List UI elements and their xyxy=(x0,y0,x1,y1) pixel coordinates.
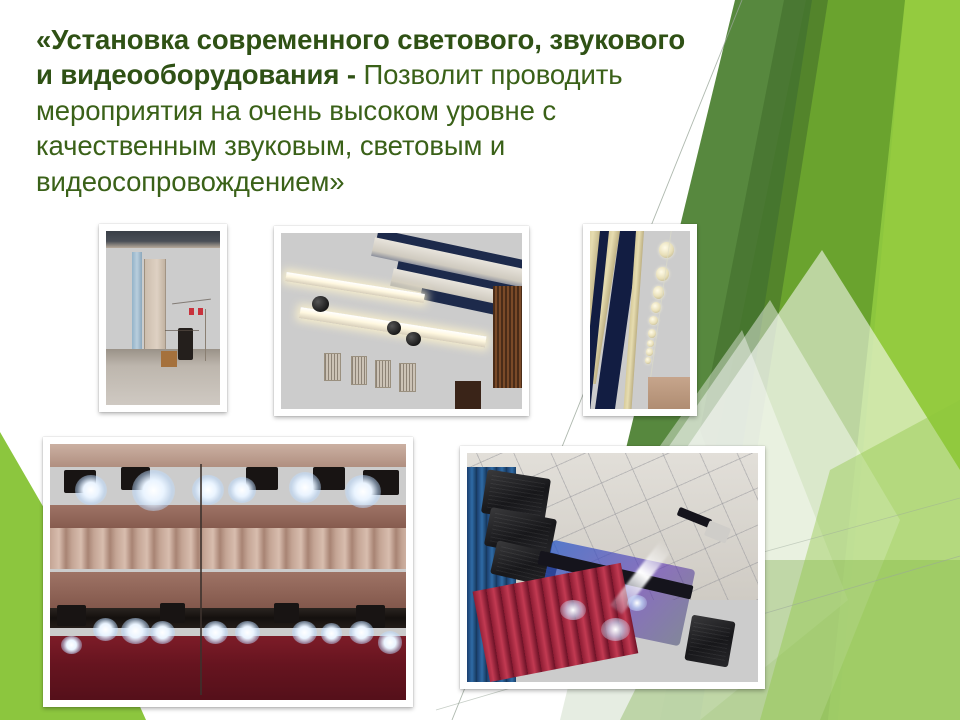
stage-spotlight-l6 xyxy=(292,621,317,644)
hall-doorway xyxy=(455,381,482,409)
hall-speaker-3 xyxy=(406,332,420,346)
hall-vent-2 xyxy=(351,356,367,384)
renovation-red-mark-b xyxy=(198,308,203,315)
hall-vent-1 xyxy=(324,353,340,381)
stage-spotlight-u4 xyxy=(228,477,256,503)
stage-vertical-pole xyxy=(200,464,202,694)
stage-spotlight-l7 xyxy=(321,623,342,643)
photo-image-blue-ceiling xyxy=(590,231,690,409)
renovation-red-mark-a xyxy=(189,308,194,315)
photo-image-line-array xyxy=(467,453,758,682)
stage-ribbed-ceiling xyxy=(50,528,406,569)
stage-spotlight-l2 xyxy=(121,618,149,644)
renovation-wire-a xyxy=(172,298,211,304)
photo-image-hall xyxy=(281,233,522,409)
slide-canvas: «Установка современного светового, звуко… xyxy=(0,0,960,720)
photo-blue-ceiling-downlights xyxy=(583,224,697,416)
stage-red-curtain xyxy=(50,636,406,700)
hall-speaker-1 xyxy=(312,296,329,312)
photo-hall-lighting-wall xyxy=(274,226,529,416)
hall-vent-3 xyxy=(375,360,391,388)
array-far-speaker xyxy=(685,614,736,667)
ceiling-downlight-9 xyxy=(645,357,651,364)
renovation-conduit xyxy=(205,309,206,361)
stage-spotlight-l10 xyxy=(61,636,82,654)
photo-line-array-speakers xyxy=(460,446,765,689)
stage-spotlight-l8 xyxy=(349,621,374,644)
renovation-pillar xyxy=(132,252,142,363)
stage-fixture-l1 xyxy=(57,605,85,625)
stage-top-slab xyxy=(50,444,406,467)
deco-soft-green-lower-2 xyxy=(760,400,960,720)
stage-spotlight-l3 xyxy=(150,621,175,644)
ceiling-photo-floor xyxy=(648,377,690,409)
hall-vent-4 xyxy=(399,363,415,391)
renovation-crate xyxy=(161,351,177,367)
ceiling-downlight-7 xyxy=(647,340,654,347)
photo-renovation-interior xyxy=(99,224,227,412)
ceiling-downlight-8 xyxy=(646,348,653,355)
stage-spotlight-u2 xyxy=(132,470,175,511)
array-glow-2 xyxy=(601,618,630,641)
stage-spotlight-l1 xyxy=(93,618,118,641)
photo-stage-lighting-truss xyxy=(43,437,413,707)
renovation-ceiling xyxy=(106,231,220,248)
photo-image-renovation xyxy=(106,231,220,405)
stage-spotlight-u3 xyxy=(192,475,224,506)
stage-spotlight-l9 xyxy=(378,631,403,654)
stage-band-lower xyxy=(50,572,406,608)
ceiling-downlight-2 xyxy=(656,267,669,281)
stage-band-upper xyxy=(50,505,406,531)
hall-wood-panel xyxy=(493,286,522,388)
renovation-wire-b xyxy=(165,330,199,331)
stage-spotlight-u5 xyxy=(289,472,321,503)
stage-spotlight-l5 xyxy=(235,621,260,644)
ceiling-downlight-6 xyxy=(648,329,656,338)
page-title: «Установка современного светового, звуко… xyxy=(36,22,696,199)
photo-image-stage-truss xyxy=(50,444,406,700)
stage-fixture-l3 xyxy=(274,603,299,623)
renovation-black-box xyxy=(178,328,193,359)
stage-spotlight-u1 xyxy=(75,475,107,506)
stage-spotlight-u6 xyxy=(345,475,381,508)
deco-bright-right-2 xyxy=(838,0,960,720)
stage-spotlight-l4 xyxy=(203,621,228,644)
